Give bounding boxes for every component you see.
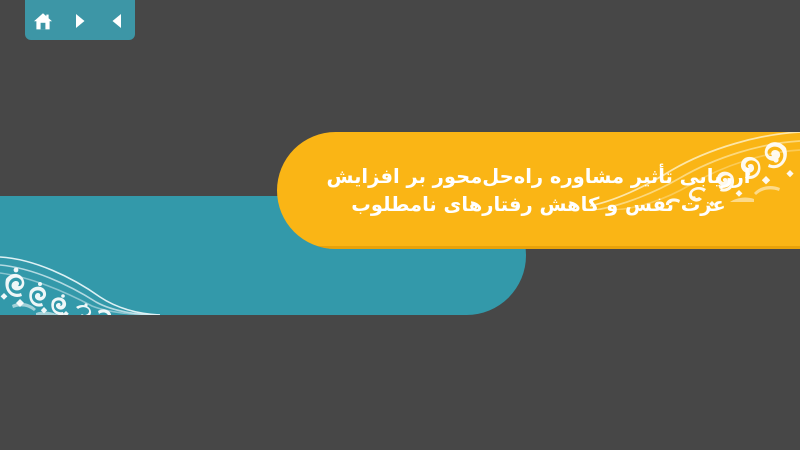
title-line-1: ارزیابی تأثیر مشاوره راه‌حل‌محور بر افزا… xyxy=(327,163,751,191)
slide-title: ارزیابی تأثیر مشاوره راه‌حل‌محور بر افزا… xyxy=(277,132,800,249)
title-panel: ارزیابی تأثیر مشاوره راه‌حل‌محور بر افزا… xyxy=(277,132,800,249)
title-line-2: عزت نفس و کاهش رفتارهای نامطلوب xyxy=(351,191,726,219)
next-button[interactable] xyxy=(67,9,93,33)
home-button[interactable] xyxy=(30,9,56,33)
arabesque-ornament-accent xyxy=(0,239,160,315)
presentation-slide: ارزیابی تأثیر مشاوره راه‌حل‌محور بر افزا… xyxy=(0,0,800,450)
home-icon xyxy=(33,12,53,31)
triangle-left-icon xyxy=(108,12,126,30)
triangle-right-icon xyxy=(71,12,89,30)
previous-button[interactable] xyxy=(104,9,130,33)
title-panel-bottom-edge xyxy=(277,246,800,249)
navigation-bar xyxy=(25,0,135,40)
